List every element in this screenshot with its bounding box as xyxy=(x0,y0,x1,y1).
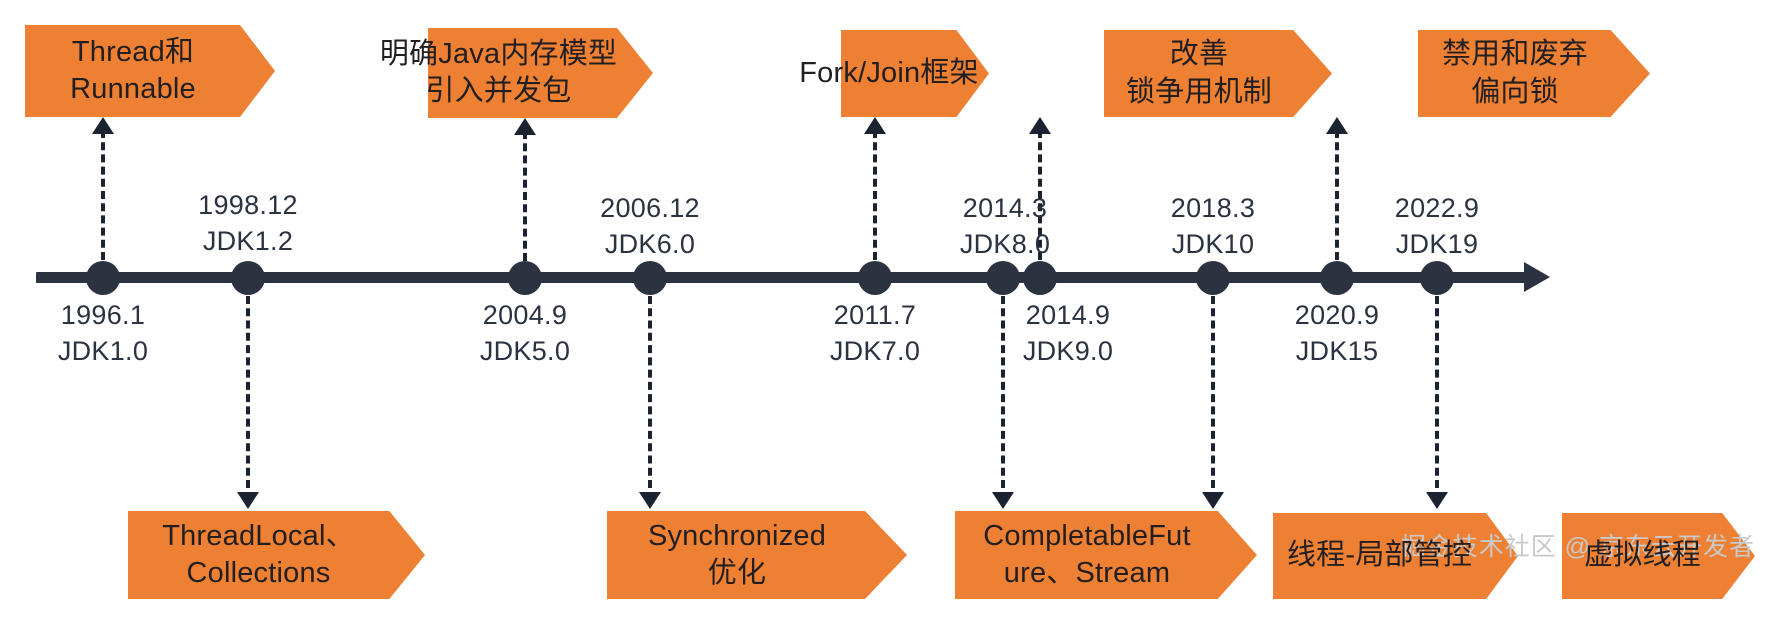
node-label-1996-1: 1996.1 JDK1.0 xyxy=(3,298,203,370)
node-date: 2011.7 xyxy=(775,298,975,334)
bottom-banner-thread-local-control: 线程-局部管控 xyxy=(1273,513,1518,599)
banner-line: Collections xyxy=(162,555,355,592)
node-date: 2022.9 xyxy=(1337,191,1537,227)
timeline-node-dot[interactable] xyxy=(1320,261,1354,295)
node-date: 2014.9 xyxy=(968,298,1168,334)
node-version: JDK19 xyxy=(1337,227,1537,263)
connector-arrowhead-down xyxy=(237,492,259,509)
top-banner-lock-contention-text: 改善 锁争用机制 xyxy=(1126,36,1310,110)
node-label-2011-7: 2011.7 JDK7.0 xyxy=(775,298,975,370)
node-version: JDK9.0 xyxy=(968,334,1168,370)
timeline-node-dot[interactable] xyxy=(858,261,892,295)
top-banner-thread-runnable-text: Thread和 Runnable xyxy=(70,34,230,108)
node-version: JDK6.0 xyxy=(550,227,750,263)
connector-2018-to-thread-local-control xyxy=(1211,296,1215,488)
timeline-node-dot[interactable] xyxy=(986,261,1020,295)
banner-line: 锁争用机制 xyxy=(1126,74,1272,111)
top-banner-java-memory-model: 明确Java内存模型 引入并发包 xyxy=(428,28,653,118)
banner-line: 改善 xyxy=(1126,36,1272,73)
banner-line: 优化 xyxy=(648,555,826,592)
connector-arrowhead-up xyxy=(92,117,114,134)
connector-1998-to-threadlocal xyxy=(246,296,250,488)
connector-2004-to-jmm xyxy=(523,131,527,261)
connector-arrowhead-down xyxy=(992,492,1014,509)
connector-arrowhead-up xyxy=(1029,117,1051,134)
connector-2022-to-virtual-threads xyxy=(1435,296,1439,488)
timeline-node-dot[interactable] xyxy=(1420,261,1454,295)
timeline-diagram: Thread和 Runnable 明确Java内存模型 引入并发包 Fork/J… xyxy=(0,0,1777,641)
timeline-node-dot[interactable] xyxy=(633,261,667,295)
node-label-2004-9: 2004.9 JDK5.0 xyxy=(425,298,625,370)
timeline-axis-arrowhead xyxy=(1524,262,1550,292)
node-date: 2014.3 xyxy=(905,191,1105,227)
timeline-node-dot[interactable] xyxy=(1196,261,1230,295)
banner-line: Fork/Join框架 xyxy=(799,55,978,92)
node-label-2014-3: 2014.3 JDK8.0 xyxy=(905,191,1105,263)
connector-arrowhead-up xyxy=(1326,117,1348,134)
connector-arrowhead-down xyxy=(1426,492,1448,509)
connector-2014-9-to-completablefuture xyxy=(1001,296,1005,488)
timeline-node-dot[interactable] xyxy=(231,261,265,295)
banner-line: Thread和 xyxy=(70,34,196,71)
node-label-2022-9: 2022.9 JDK19 xyxy=(1337,191,1537,263)
bottom-banner-completablefuture-stream: CompletableFut ure、Stream xyxy=(955,511,1257,599)
timeline-node-dot[interactable] xyxy=(86,261,120,295)
banner-line: 偏向锁 xyxy=(1442,74,1588,111)
connector-arrowhead-up xyxy=(864,117,886,134)
node-version: JDK1.0 xyxy=(3,334,203,370)
node-date: 2004.9 xyxy=(425,298,625,334)
timeline-node-dot[interactable] xyxy=(508,261,542,295)
banner-line: Runnable xyxy=(70,71,196,108)
banner-line: ThreadLocal、 xyxy=(162,518,355,555)
node-label-2014-9: 2014.9 JDK9.0 xyxy=(968,298,1168,370)
banner-line: CompletableFut xyxy=(983,518,1191,555)
connector-2011-to-forkjoin xyxy=(873,130,877,260)
bottom-banner-threadlocal-collections-text: ThreadLocal、 Collections xyxy=(162,518,391,592)
node-date: 2006.12 xyxy=(550,191,750,227)
node-label-2006-12: 2006.12 JDK6.0 xyxy=(550,191,750,263)
banner-line: 明确Java内存模型 xyxy=(380,36,617,73)
node-version: JDK1.2 xyxy=(148,224,348,260)
bottom-banner-synchronized: Synchronized 优化 xyxy=(607,511,907,599)
node-label-2018-3: 2018.3 JDK10 xyxy=(1113,191,1313,263)
node-version: JDK8.0 xyxy=(905,227,1105,263)
node-date: 2018.3 xyxy=(1113,191,1313,227)
node-label-2020-9: 2020.9 JDK15 xyxy=(1237,298,1437,370)
top-banner-lock-contention: 改善 锁争用机制 xyxy=(1104,30,1332,117)
banner-line: 线程-局部管控 xyxy=(1287,537,1472,574)
connector-arrowhead-down xyxy=(1202,492,1224,509)
bottom-banner-virtual-threads: 虚拟线程 xyxy=(1562,513,1755,599)
node-version: JDK5.0 xyxy=(425,334,625,370)
top-banner-thread-runnable: Thread和 Runnable xyxy=(25,25,275,117)
node-date: 1996.1 xyxy=(3,298,203,334)
node-date: 1998.12 xyxy=(148,188,348,224)
node-label-1998-12: 1998.12 JDK1.2 xyxy=(148,188,348,260)
banner-line: 虚拟线程 xyxy=(1584,537,1701,574)
bottom-banner-completablefuture-stream-text: CompletableFut ure、Stream xyxy=(983,518,1229,592)
bottom-banner-synchronized-text: Synchronized 优化 xyxy=(648,518,866,592)
top-banner-forkjoin: Fork/Join框架 xyxy=(841,30,989,117)
banner-line: ure、Stream xyxy=(983,555,1191,592)
banner-line: Synchronized xyxy=(648,518,826,555)
connector-arrowhead-up xyxy=(514,118,536,135)
connector-2006-to-synchronized xyxy=(648,296,652,488)
connector-arrowhead-down xyxy=(639,492,661,509)
top-banner-biased-locking-text: 禁用和废弃 偏向锁 xyxy=(1442,36,1626,110)
top-banner-java-memory-model-text: 明确Java内存模型 引入并发包 xyxy=(380,36,649,110)
bottom-banner-threadlocal-collections: ThreadLocal、 Collections xyxy=(128,511,425,599)
node-version: JDK10 xyxy=(1113,227,1313,263)
top-banner-forkjoin-text: Fork/Join框架 xyxy=(799,55,1008,92)
banner-line: 禁用和废弃 xyxy=(1442,36,1588,73)
node-version: JDK7.0 xyxy=(775,334,975,370)
bottom-banner-thread-local-control-text: 线程-局部管控 xyxy=(1287,537,1504,574)
connector-1996-to-thread xyxy=(101,130,105,260)
top-banner-biased-locking: 禁用和废弃 偏向锁 xyxy=(1418,30,1650,117)
node-version: JDK15 xyxy=(1237,334,1437,370)
timeline-node-dot[interactable] xyxy=(1023,261,1057,295)
bottom-banner-virtual-threads-text: 虚拟线程 xyxy=(1584,537,1733,574)
node-date: 2020.9 xyxy=(1237,298,1437,334)
banner-line: 引入并发包 xyxy=(380,73,617,110)
